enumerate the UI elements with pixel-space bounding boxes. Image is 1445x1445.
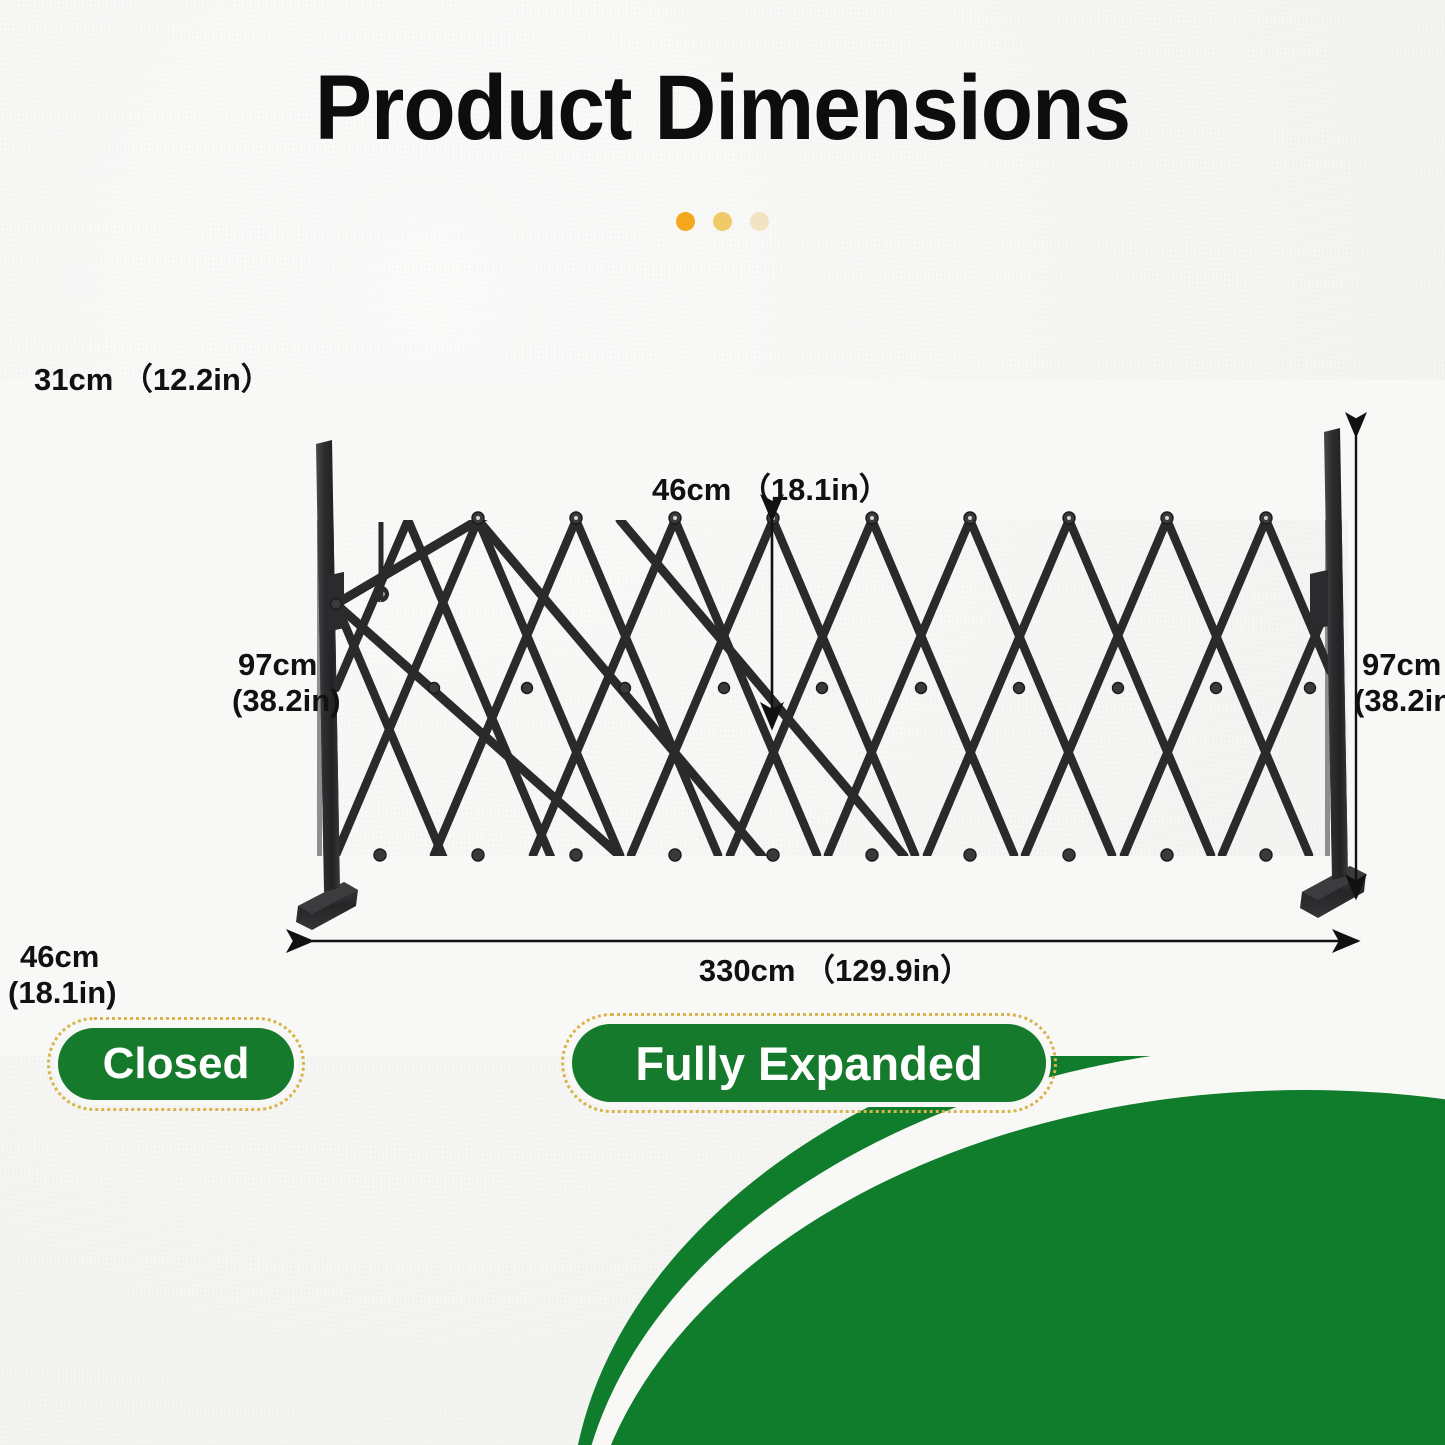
expanded-width-label: 330cm （129.9in） xyxy=(530,954,1140,988)
expanded-latch-hook xyxy=(375,522,387,600)
closed-rivet-band-mid xyxy=(86,710,198,730)
expanded-bracket-right xyxy=(1310,570,1328,630)
expanded-foot-right xyxy=(1300,866,1366,918)
expanded-height-label-cm: 97cm xyxy=(1362,648,1441,682)
closed-foot-front xyxy=(140,885,284,942)
closed-height-label-cm: 97cm xyxy=(238,648,317,682)
closed-depth-label-cm: 46cm xyxy=(20,940,99,974)
expanded-foot-left xyxy=(296,882,358,930)
badge-fully-expanded[interactable]: Fully Expanded xyxy=(572,1024,1046,1102)
closed-slat-pack xyxy=(88,430,196,891)
closed-depth-label-in: (18.1in) xyxy=(8,976,117,1010)
expanded-height-label-in: (38.2in) xyxy=(1354,684,1445,718)
badge-closed-label: Closed xyxy=(103,1039,250,1089)
closed-width-label: 31cm （12.2in） xyxy=(34,363,272,397)
expanded-lattice-rivets xyxy=(331,512,1316,861)
badge-closed[interactable]: Closed xyxy=(58,1028,294,1100)
dot-3-icon xyxy=(750,212,769,231)
expanded-post-right xyxy=(1324,428,1348,880)
closed-height-label-in: (38.2in) xyxy=(232,684,341,718)
infographic-canvas: Product Dimensions xyxy=(0,0,1445,1445)
closed-top-bracket xyxy=(86,428,193,455)
closed-latch-left xyxy=(76,578,86,650)
closed-rivet-band-bottom xyxy=(70,856,210,894)
page-title: Product Dimensions xyxy=(51,62,1395,154)
expanded-diamond-label: 46cm （18.1in） xyxy=(652,473,890,507)
corner-green-inner xyxy=(583,1090,1445,1445)
closed-post-right xyxy=(188,430,216,908)
closed-latch-right xyxy=(188,572,198,644)
dot-1-icon xyxy=(676,212,695,231)
closed-post-left xyxy=(57,426,84,908)
decorative-dots xyxy=(0,212,1445,231)
closed-foot-rear xyxy=(14,884,152,940)
dot-2-icon xyxy=(713,212,732,231)
expanded-post-left xyxy=(316,440,340,892)
badge-expanded-label: Fully Expanded xyxy=(635,1036,982,1091)
expanded-bracket-left xyxy=(326,572,344,632)
closed-rivet-band-top xyxy=(82,572,196,594)
